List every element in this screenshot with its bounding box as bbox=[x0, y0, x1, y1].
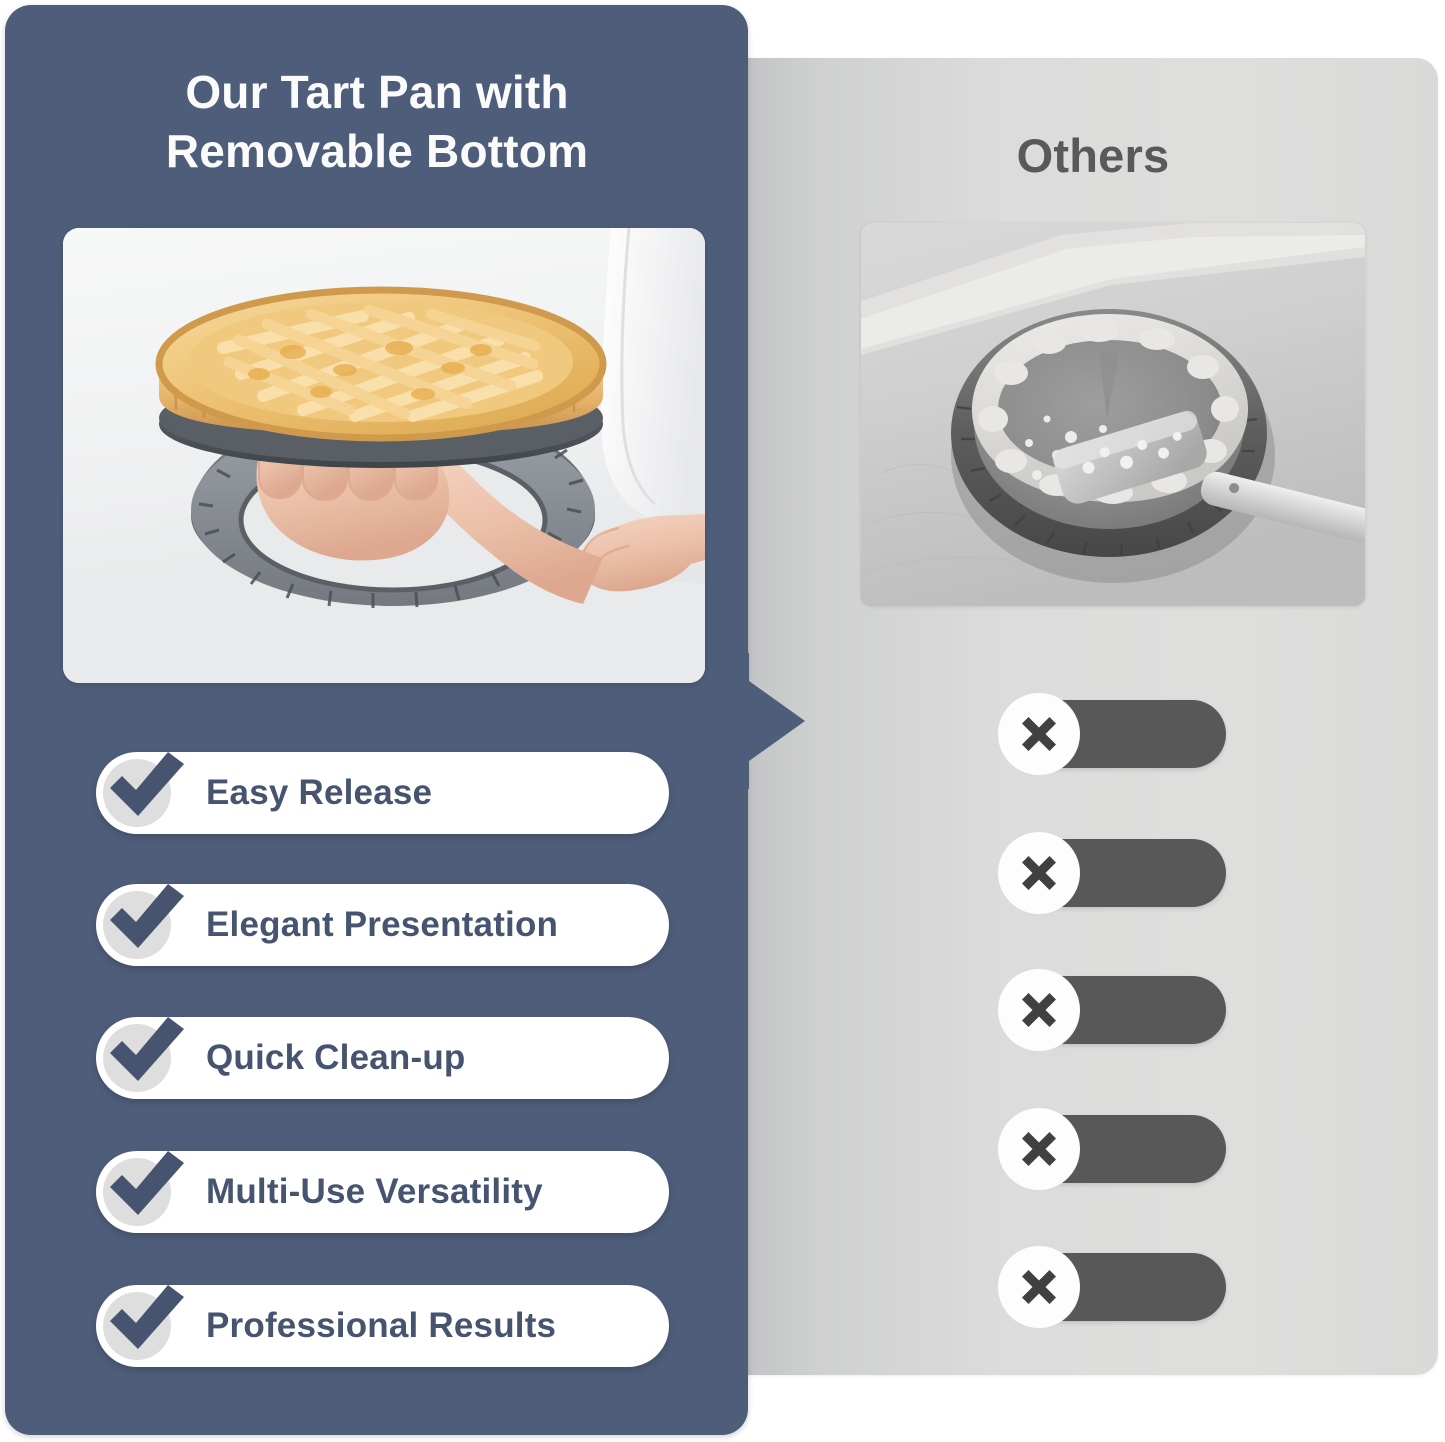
x-icon bbox=[998, 832, 1080, 914]
others-feature-row bbox=[1002, 1253, 1226, 1321]
tart-pan-illustration bbox=[63, 228, 705, 683]
feature-pill[interactable]: Professional Results bbox=[96, 1285, 669, 1367]
x-icon bbox=[998, 969, 1080, 1051]
feature-label: Professional Results bbox=[206, 1285, 556, 1367]
page-title: Our Tart Pan with Removable Bottom bbox=[47, 63, 707, 181]
check-icon bbox=[96, 1003, 192, 1099]
others-title: Others bbox=[748, 128, 1438, 183]
feature-label: Multi-Use Versatility bbox=[206, 1151, 543, 1233]
others-feature-row bbox=[1002, 700, 1226, 768]
feature-pill[interactable]: Elegant Presentation bbox=[96, 884, 669, 966]
x-icon bbox=[998, 693, 1080, 775]
others-feature-row bbox=[1002, 976, 1226, 1044]
feature-pill[interactable]: Easy Release bbox=[96, 752, 669, 834]
check-icon bbox=[96, 1137, 192, 1233]
feature-label: Quick Clean-up bbox=[206, 1017, 466, 1099]
check-icon bbox=[96, 738, 192, 834]
page-title-line-2: Removable Bottom bbox=[47, 122, 707, 181]
feature-pill[interactable]: Multi-Use Versatility bbox=[96, 1151, 669, 1233]
others-feature-row bbox=[1002, 839, 1226, 907]
baked-tart bbox=[159, 290, 603, 438]
tart-pan-removable-bottom-photo bbox=[63, 228, 705, 683]
feature-pill[interactable]: Quick Clean-up bbox=[96, 1017, 669, 1099]
others-feature-row bbox=[1002, 1115, 1226, 1183]
feature-label: Elegant Presentation bbox=[206, 884, 558, 966]
stuck-crust-illustration bbox=[861, 223, 1365, 606]
arrow-right-icon bbox=[741, 653, 807, 789]
page-title-line-1: Our Tart Pan with bbox=[47, 63, 707, 122]
check-icon bbox=[96, 870, 192, 966]
comparison-infographic: Others bbox=[0, 0, 1445, 1442]
check-icon bbox=[96, 1271, 192, 1367]
x-icon bbox=[998, 1246, 1080, 1328]
stuck-crust-tart-pan-photo bbox=[861, 223, 1365, 606]
x-icon bbox=[998, 1108, 1080, 1190]
others-panel: Others bbox=[748, 58, 1438, 1375]
our-product-panel: Our Tart Pan with Removable Bottom bbox=[5, 5, 748, 1435]
feature-label: Easy Release bbox=[206, 752, 432, 834]
